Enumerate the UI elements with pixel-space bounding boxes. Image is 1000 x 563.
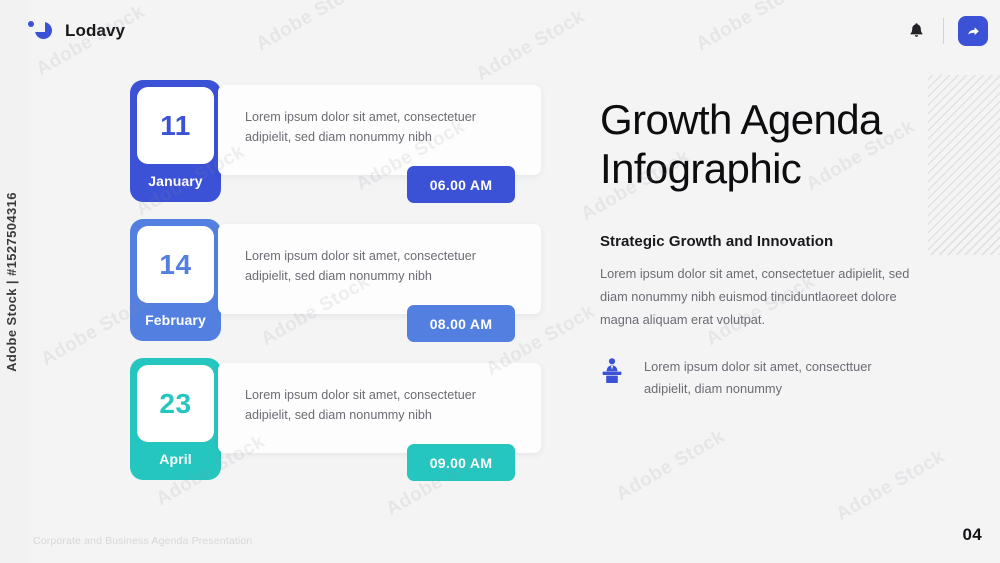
date-card[interactable]: 11 January — [130, 80, 221, 202]
agenda-row: 14 February Lorem ipsum dolor sit amet, … — [130, 219, 550, 358]
brand-logo[interactable]: Lodavy — [28, 18, 125, 44]
section-subheading: Strategic Growth and Innovation — [600, 233, 940, 250]
time-badge[interactable]: 06.00 AM — [407, 166, 515, 203]
page-title: Growth Agenda Infographic — [600, 95, 940, 193]
date-number: 11 — [160, 110, 191, 142]
top-bar: Lodavy — [28, 0, 1000, 64]
date-card[interactable]: 14 February — [130, 219, 221, 341]
agenda-row: 11 January Lorem ipsum dolor sit amet, c… — [130, 80, 550, 219]
footer-note: Corporate and Business Agenda Presentati… — [33, 535, 252, 547]
agenda-content-card: Lorem ipsum dolor sit amet, consectetuer… — [218, 85, 541, 175]
date-month: February — [145, 312, 206, 328]
share-button[interactable] — [958, 16, 988, 46]
highlight-text: Lorem ipsum dolor sit amet, consecttuer … — [644, 356, 902, 400]
agenda-content-card: Lorem ipsum dolor sit amet, consectetuer… — [218, 224, 541, 314]
date-month: April — [159, 451, 191, 467]
date-number: 23 — [159, 388, 191, 420]
slide-canvas: Lodavy 11 — [28, 0, 1000, 563]
time-badge[interactable]: 08.00 AM — [407, 305, 515, 342]
top-actions-divider — [943, 18, 944, 44]
agenda-list: 11 January Lorem ipsum dolor sit amet, c… — [130, 80, 550, 497]
date-number-box: 11 — [137, 87, 214, 164]
stock-watermark-side: Adobe Stock | #1527504316 — [4, 192, 19, 372]
date-number-box: 23 — [137, 365, 214, 442]
time-badge[interactable]: 09.00 AM — [407, 444, 515, 481]
agenda-description: Lorem ipsum dolor sit amet, consectetuer… — [245, 246, 521, 287]
agenda-row: 23 April Lorem ipsum dolor sit amet, con… — [130, 358, 550, 497]
date-month: January — [148, 173, 202, 189]
lodavy-circle-logo-icon — [28, 18, 54, 44]
agenda-description: Lorem ipsum dolor sit amet, consectetuer… — [245, 107, 521, 148]
agenda-content-card: Lorem ipsum dolor sit amet, consectetuer… — [218, 363, 541, 453]
date-number: 14 — [159, 249, 191, 281]
date-number-box: 14 — [137, 226, 214, 303]
top-actions — [903, 16, 988, 46]
section-body-text: Lorem ipsum dolor sit amet, consectetuer… — [600, 263, 916, 331]
brand-name: Lodavy — [65, 21, 125, 41]
page-number: 04 — [962, 525, 982, 545]
share-arrow-icon — [966, 24, 980, 38]
date-card[interactable]: 23 April — [130, 358, 221, 480]
agenda-description: Lorem ipsum dolor sit amet, consectetuer… — [245, 385, 521, 426]
bell-icon[interactable] — [903, 16, 929, 46]
highlight-item: Lorem ipsum dolor sit amet, consecttuer … — [600, 356, 940, 400]
right-column: Growth Agenda Infographic Strategic Grow… — [600, 95, 940, 400]
speaker-podium-icon — [600, 358, 624, 389]
